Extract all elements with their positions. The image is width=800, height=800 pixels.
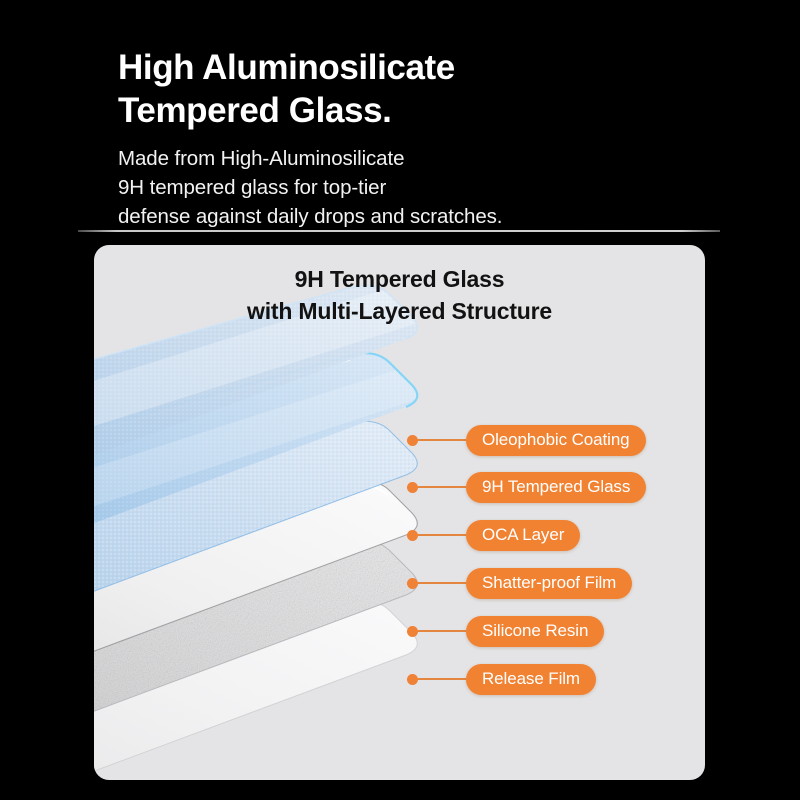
callout-leader-line [418, 630, 466, 632]
callout-leader-line [418, 534, 466, 536]
diagram-panel: 9H Tempered Glass with Multi-Layered Str… [94, 245, 705, 780]
callout-dot-icon [407, 626, 418, 637]
callout-list: Oleophobic Coating 9H Tempered Glass OCA… [94, 245, 705, 780]
callout-label[interactable]: 9H Tempered Glass [466, 472, 646, 503]
callout-9h-tempered-glass[interactable]: 9H Tempered Glass [407, 472, 646, 502]
header-block: High Aluminosilicate Tempered Glass. Mad… [118, 46, 738, 231]
callout-dot-icon [407, 530, 418, 541]
callout-label[interactable]: Oleophobic Coating [466, 425, 646, 456]
callout-release-film[interactable]: Release Film [407, 664, 596, 694]
header-divider [78, 230, 720, 232]
callout-leader-line [418, 486, 466, 488]
callout-label[interactable]: Shatter-proof Film [466, 568, 632, 599]
callout-oleophobic-coating[interactable]: Oleophobic Coating [407, 425, 646, 455]
infographic-canvas: High Aluminosilicate Tempered Glass. Mad… [0, 0, 800, 800]
callout-shatter-proof-film[interactable]: Shatter-proof Film [407, 568, 632, 598]
callout-dot-icon [407, 578, 418, 589]
callout-dot-icon [407, 435, 418, 446]
callout-oca-layer[interactable]: OCA Layer [407, 520, 580, 550]
page-subtitle: Made from High-Aluminosilicate 9H temper… [118, 144, 738, 231]
callout-silicone-resin[interactable]: Silicone Resin [407, 616, 604, 646]
page-title: High Aluminosilicate Tempered Glass. [118, 46, 738, 132]
callout-leader-line [418, 678, 466, 680]
callout-dot-icon [407, 482, 418, 493]
callout-label[interactable]: Release Film [466, 664, 596, 695]
callout-label[interactable]: Silicone Resin [466, 616, 604, 647]
callout-leader-line [418, 439, 466, 441]
callout-label[interactable]: OCA Layer [466, 520, 580, 551]
callout-leader-line [418, 582, 466, 584]
callout-dot-icon [407, 674, 418, 685]
